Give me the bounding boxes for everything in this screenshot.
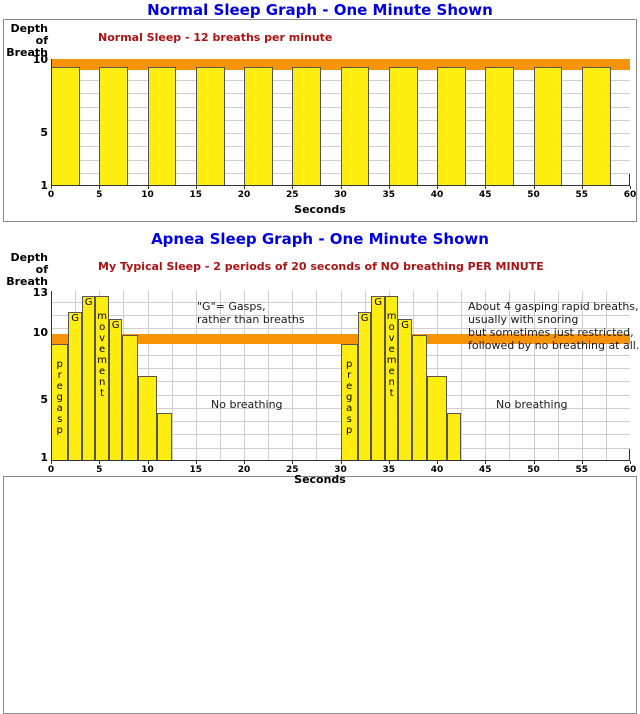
y-axis-right-stub — [629, 449, 630, 461]
x-axis-tick-mark — [148, 186, 149, 189]
normal-ytick-5: 5 — [8, 128, 48, 138]
apnea-chart-frame — [3, 476, 637, 714]
x-axis-tick-mark — [437, 461, 438, 464]
breath-bar — [389, 67, 418, 186]
x-axis-tick-mark — [630, 186, 631, 189]
x-axis-tick-label: 25 — [280, 190, 304, 200]
apnea-sleep-note: My Typical Sleep - 2 periods of 20 secon… — [98, 260, 544, 273]
breath-bar — [437, 67, 466, 186]
x-axis-tick-label: 55 — [570, 190, 594, 200]
x-axis-tick-label: 20 — [232, 465, 256, 475]
breath-bar — [582, 67, 611, 186]
x-axis-tick-label: 15 — [184, 190, 208, 200]
breath-bar: G — [68, 312, 82, 461]
breath-bar: G — [358, 312, 372, 461]
gasp-marker-label: G — [69, 314, 81, 324]
y-axis-right-stub — [629, 174, 630, 186]
x-axis-tick-label: 5 — [87, 465, 111, 475]
x-axis-tick-label: 60 — [618, 190, 640, 200]
x-axis-tick-mark — [99, 186, 100, 189]
x-axis-tick-mark — [485, 186, 486, 189]
gasp-marker-label: G — [110, 321, 122, 331]
x-axis-tick-mark — [196, 186, 197, 189]
breath-bar — [196, 67, 225, 186]
right-note-line4: followed by no breathing at all. — [468, 339, 639, 352]
gridline-vertical — [316, 291, 317, 461]
breath-bar: p r e g a s p — [51, 344, 68, 461]
breath-bar — [485, 67, 514, 186]
x-axis-tick-mark — [389, 186, 390, 189]
breath-bar — [157, 413, 171, 461]
breath-bar: G — [371, 296, 385, 461]
normal-ytick-10: 10 — [8, 55, 48, 65]
normal-xaxis-label: Seconds — [0, 203, 640, 216]
x-axis-tick-label: 50 — [522, 190, 546, 200]
x-axis-tick-label: 40 — [425, 190, 449, 200]
breath-bar — [534, 67, 563, 186]
apnea-ytick-1: 1 — [8, 453, 48, 463]
breath-bar: m o v e m e n t — [95, 296, 109, 461]
breath-bar — [148, 67, 177, 186]
x-axis-tick-mark — [582, 186, 583, 189]
gasps-note-line1: "G"= Gasps, — [197, 300, 266, 313]
breath-bar — [122, 335, 137, 461]
x-axis-tick-mark — [389, 461, 390, 464]
breath-bar — [138, 376, 157, 461]
breath-bar — [447, 413, 461, 461]
x-axis-tick-label: 10 — [136, 190, 160, 200]
x-axis-tick-label: 0 — [39, 190, 63, 200]
y-axis-line — [51, 291, 52, 461]
gridline-vertical — [582, 291, 583, 461]
x-axis-tick-mark — [244, 186, 245, 189]
x-axis-tick-label: 50 — [522, 465, 546, 475]
x-axis-tick-label: 0 — [39, 465, 63, 475]
apnea-ytick-5: 5 — [8, 395, 48, 405]
y-axis-line — [51, 59, 52, 186]
x-axis-tick-mark — [630, 461, 631, 464]
x-axis-tick-label: 15 — [184, 465, 208, 475]
x-axis-tick-mark — [51, 461, 52, 464]
gridline-vertical — [172, 291, 173, 461]
gasp-marker-label: G — [83, 298, 95, 308]
right-note-line1: About 4 gasping rapid breaths, — [468, 300, 639, 313]
right-note-line2: usually with snoring — [468, 313, 578, 326]
x-axis-tick-label: 10 — [136, 465, 160, 475]
x-axis-tick-label: 5 — [87, 190, 111, 200]
x-axis-tick-mark — [341, 186, 342, 189]
x-axis-tick-label: 55 — [570, 465, 594, 475]
no-breathing-note-1: No breathing — [211, 398, 283, 411]
normal-graph-title: Normal Sleep Graph - One Minute Shown — [0, 1, 640, 19]
x-axis-tick-label: 20 — [232, 190, 256, 200]
breath-bar — [292, 67, 321, 186]
x-axis-tick-label: 35 — [377, 465, 401, 475]
breath-bar: G — [82, 296, 96, 461]
bar-vertical-label: p r e g a s p — [52, 359, 67, 436]
bar-vertical-label: p r e g a s p — [342, 359, 357, 436]
gasp-marker-label: G — [372, 298, 384, 308]
gasps-note-line2: rather than breaths — [197, 313, 305, 326]
x-axis-tick-mark — [292, 186, 293, 189]
breath-bar: p r e g a s p — [341, 344, 358, 461]
apnea-ytick-13: 13 — [8, 288, 48, 298]
x-axis-tick-mark — [437, 186, 438, 189]
right-note-line3: but sometimes just restricted, — [468, 326, 634, 339]
x-axis-tick-mark — [534, 461, 535, 464]
x-axis-tick-mark — [196, 461, 197, 464]
x-axis-tick-mark — [99, 461, 100, 464]
x-axis-tick-label: 45 — [473, 190, 497, 200]
x-axis-tick-mark — [51, 186, 52, 189]
apnea-ytick-10: 10 — [8, 328, 48, 338]
x-axis-tick-label: 25 — [280, 465, 304, 475]
gasp-marker-label: G — [359, 314, 371, 324]
breath-bar — [427, 376, 446, 461]
breath-bar — [244, 67, 273, 186]
bar-vertical-label: m o v e m e n t — [386, 311, 398, 399]
apnea-graph-title: Apnea Sleep Graph - One Minute Shown — [0, 230, 640, 248]
x-axis-tick-mark — [244, 461, 245, 464]
x-axis-tick-label: 45 — [473, 465, 497, 475]
x-axis-tick-mark — [341, 461, 342, 464]
gridline-vertical — [606, 291, 607, 461]
x-axis-tick-mark — [485, 461, 486, 464]
x-axis-tick-mark — [148, 461, 149, 464]
breath-bar: G — [109, 319, 123, 461]
breath-bar — [51, 67, 80, 186]
no-breathing-note-2: No breathing — [496, 398, 568, 411]
normal-sleep-note: Normal Sleep - 12 breaths per minute — [98, 31, 332, 44]
breath-bar: m o v e m e n t — [385, 296, 399, 461]
breath-bar — [341, 67, 370, 186]
x-axis-tick-mark — [582, 461, 583, 464]
x-axis-tick-label: 40 — [425, 465, 449, 475]
x-axis-tick-label: 30 — [329, 465, 353, 475]
bar-vertical-label: m o v e m e n t — [96, 311, 108, 399]
breath-bar: G — [398, 319, 412, 461]
breath-bar — [99, 67, 128, 186]
x-axis-tick-label: 30 — [329, 190, 353, 200]
breath-bar — [412, 335, 427, 461]
x-axis-tick-label: 35 — [377, 190, 401, 200]
x-axis-tick-mark — [292, 461, 293, 464]
normal-plot-area — [51, 59, 630, 186]
x-axis-tick-label: 60 — [618, 465, 640, 475]
x-axis-tick-mark — [534, 186, 535, 189]
gasp-marker-label: G — [399, 321, 411, 331]
gridline-vertical — [461, 291, 462, 461]
